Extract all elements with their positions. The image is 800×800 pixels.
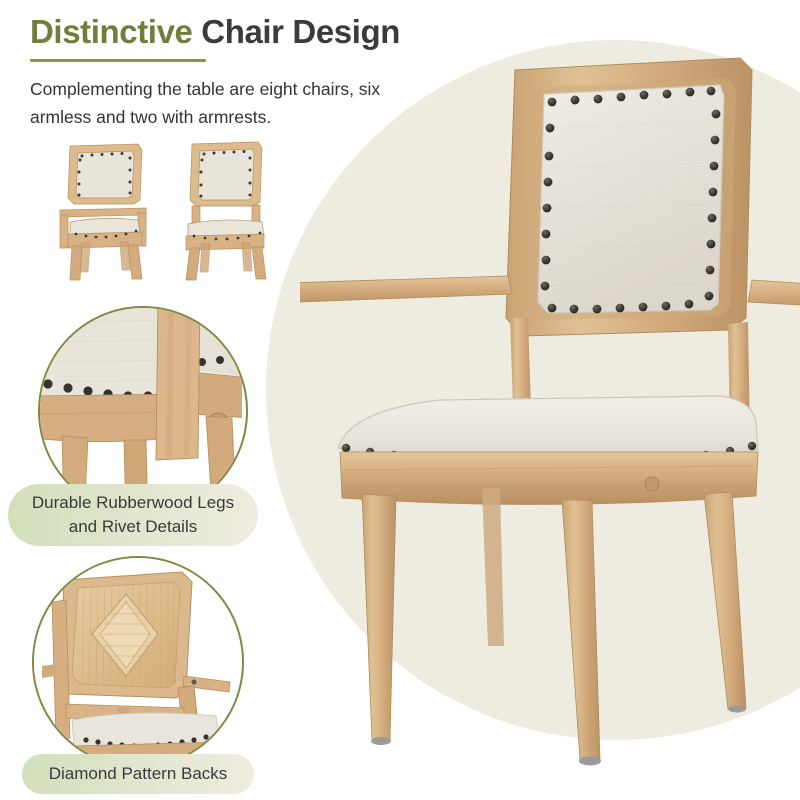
- wood-plug: [645, 477, 659, 491]
- title-underline: [30, 59, 206, 62]
- title-accent: Distinctive: [30, 13, 193, 50]
- armchair-thumbnail: [52, 138, 157, 283]
- seat-apron: [340, 452, 758, 505]
- right-armrest: [748, 280, 800, 314]
- side-chair-thumbnail: [172, 138, 277, 283]
- front-left-leg: [362, 494, 396, 740]
- legs-detail-illustration: [40, 308, 242, 510]
- subtitle: Complementing the table are eight chairs…: [30, 75, 430, 132]
- back-right-leg: [704, 492, 746, 709]
- title-rest: Chair Design: [193, 13, 401, 50]
- left-armrest: [300, 276, 512, 306]
- page-title: Distinctive Chair Design: [30, 14, 490, 51]
- detail-inset-back: [32, 556, 244, 768]
- chair-thumbnails: [52, 138, 282, 283]
- caption-pill-legs-label: Durable Rubberwood Legs and Rivet Detail…: [24, 491, 242, 539]
- back-left-leg: [482, 488, 504, 646]
- caption-pill-backs: Diamond Pattern Backs: [22, 754, 254, 794]
- infographic-canvas: Distinctive Chair Design Complementing t…: [0, 0, 800, 800]
- front-right-leg: [562, 500, 600, 760]
- caption-pill-legs: Durable Rubberwood Legs and Rivet Detail…: [8, 484, 258, 546]
- caption-pill-backs-label: Diamond Pattern Backs: [49, 762, 228, 786]
- back-detail-illustration: [34, 558, 238, 762]
- header: Distinctive Chair Design Complementing t…: [30, 14, 490, 149]
